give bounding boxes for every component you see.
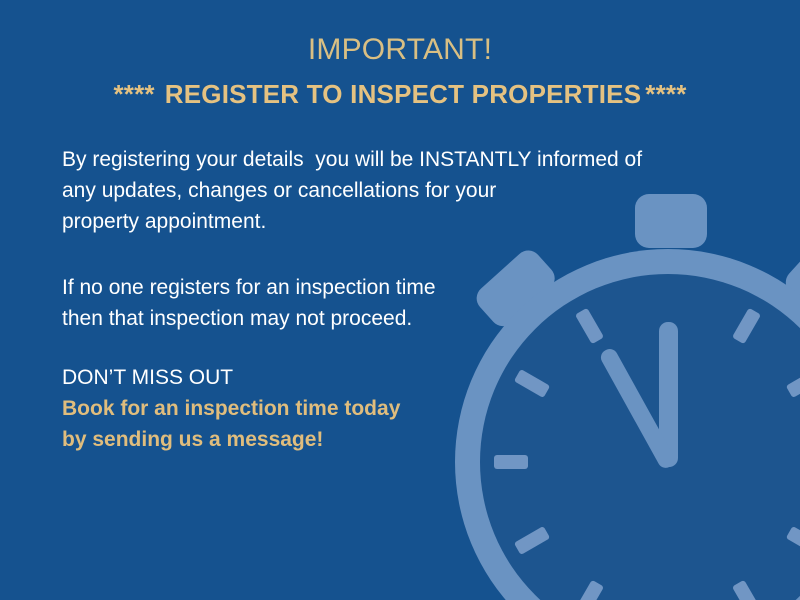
trailing-asterisks: ****	[645, 79, 686, 109]
register-headline-text: REGISTER TO INSPECT PROPERTIES	[165, 79, 642, 109]
cta-line-dont-miss-out: DON’T MISS OUT	[62, 362, 762, 393]
heading-block: IMPORTANT! ****REGISTER TO INSPECT PROPE…	[0, 30, 800, 113]
paragraph1-line2: any updates, changes or cancellations fo…	[62, 175, 762, 206]
cta-line-send-message: by sending us a message!	[62, 424, 762, 455]
paragraph1-line1: By registering your details you will be …	[62, 144, 762, 175]
page-title-register: ****REGISTER TO INSPECT PROPERTIES****	[0, 75, 800, 113]
call-to-action-block: DON’T MISS OUT Book for an inspection ti…	[62, 362, 762, 455]
page-title-important: IMPORTANT!	[0, 30, 800, 70]
cta-line-book-inspection: Book for an inspection time today	[62, 393, 762, 424]
text-layer: IMPORTANT! ****REGISTER TO INSPECT PROPE…	[0, 0, 800, 600]
leading-asterisks: ****	[113, 79, 154, 109]
paragraph2-line2: then that inspection may not proceed.	[62, 303, 762, 334]
paragraph-no-registration-warning: If no one registers for an inspection ti…	[62, 272, 762, 334]
paragraph-registering-benefits: By registering your details you will be …	[62, 144, 762, 237]
paragraph2-line1: If no one registers for an inspection ti…	[62, 272, 762, 303]
promotional-slide: IMPORTANT! ****REGISTER TO INSPECT PROPE…	[0, 0, 800, 600]
paragraph1-line3: property appointment.	[62, 206, 762, 237]
